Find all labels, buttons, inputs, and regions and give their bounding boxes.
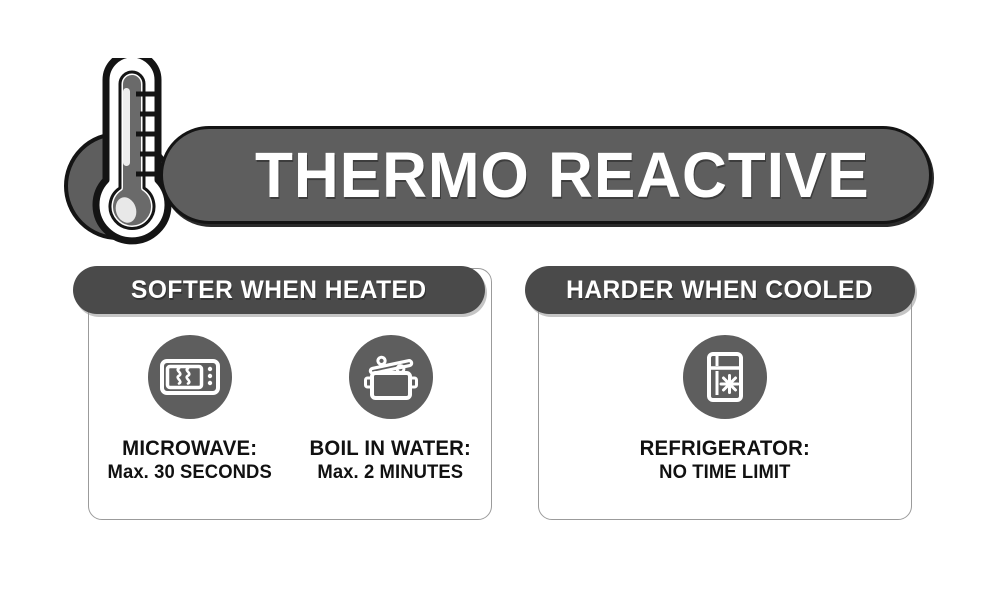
microwave-icon [148,335,232,419]
item-microwave: MICROWAVE: Max. 30 SECONDS [89,317,290,484]
card-header-label: HARDER WHEN COOLED [567,276,874,305]
caption-microwave: MICROWAVE: Max. 30 SECONDS [105,437,274,484]
pot-boiling-icon [349,335,433,419]
card-harder-when-cooled: HARDER WHEN COOLED [538,268,912,520]
card-header-softer: SOFTER WHEN HEATED [73,266,485,314]
item-subtitle: Max. 30 SECONDS [107,462,271,484]
card-body-harder: REFRIGERATOR: NO TIME LIMIT [539,317,911,521]
card-header-label: SOFTER WHEN HEATED [131,276,427,305]
item-title: MICROWAVE: [107,437,271,462]
title-row: THERMO REACTIVE [0,0,1000,262]
item-boil-in-water: BOIL IN WATER: Max. 2 MINUTES [290,317,491,484]
caption-refrigerator: REFRIGERATOR: NO TIME LIMIT [637,437,813,484]
page-title: THERMO REACTIVE [222,143,870,207]
caption-boil-in-water: BOIL IN WATER: Max. 2 MINUTES [307,437,474,484]
refrigerator-icon [683,335,767,419]
item-refrigerator: REFRIGERATOR: NO TIME LIMIT [539,317,911,484]
item-title: REFRIGERATOR: [640,437,810,462]
title-banner: THERMO REACTIVE [160,126,932,224]
thermo-reactive-infographic: THERMO REACTIVE SOFTER WHEN HEATED [0,0,1000,607]
card-softer-when-heated: SOFTER WHEN HEATED [88,268,492,520]
card-header-harder: HARDER WHEN COOLED [525,266,915,314]
item-subtitle: Max. 2 MINUTES [310,462,472,484]
item-title: BOIL IN WATER: [310,437,472,462]
card-body-softer: MICROWAVE: Max. 30 SECONDS [89,317,491,521]
item-subtitle: NO TIME LIMIT [640,462,810,484]
cards-row: SOFTER WHEN HEATED [0,268,1000,538]
